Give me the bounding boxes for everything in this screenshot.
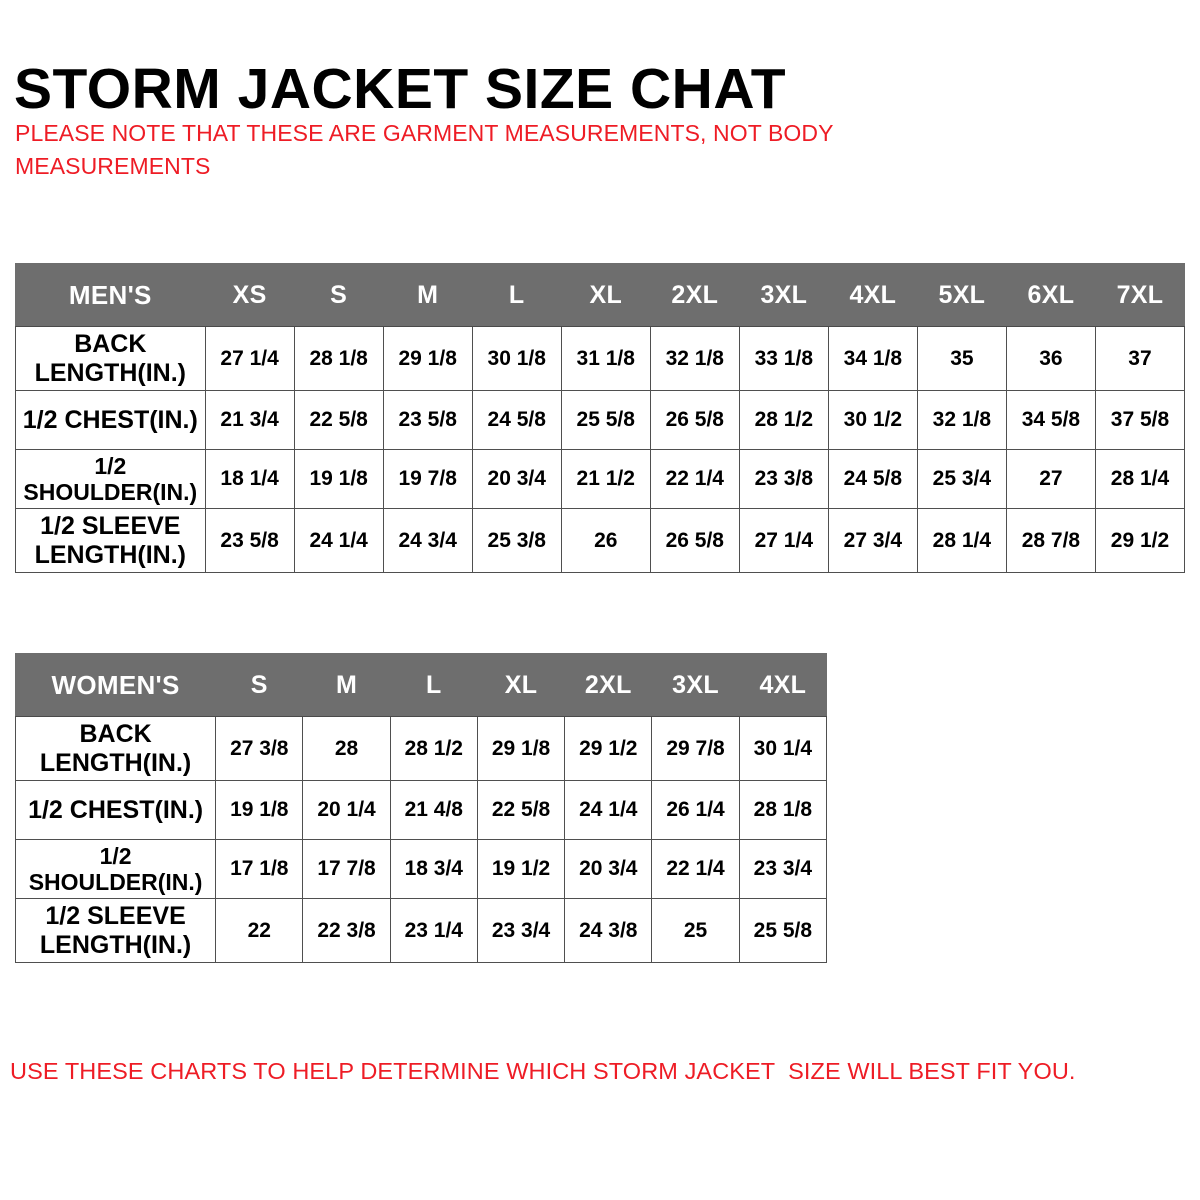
measurement-cell: 29 1/2 — [565, 717, 652, 781]
measurement-cell: 28 1/4 — [1095, 450, 1184, 509]
measurement-cell: 21 3/4 — [205, 391, 294, 450]
mens-size-header-4xl: 4XL — [828, 264, 917, 327]
womens-size-header-s: S — [216, 654, 303, 717]
mens-measurement-label: BACKLENGTH(IN.) — [16, 327, 206, 391]
measurement-cell: 27 3/8 — [216, 717, 303, 781]
measurement-cell: 29 7/8 — [652, 717, 739, 781]
mens-table-header: MEN'SXSSMLXL2XL3XL4XL5XL6XL7XL — [16, 264, 1185, 327]
mens-size-header-2xl: 2XL — [650, 264, 739, 327]
measurement-cell: 23 5/8 — [205, 509, 294, 573]
womens-table-header: WOMEN'SSMLXL2XL3XL4XL — [16, 654, 827, 717]
measurement-cell: 29 1/8 — [383, 327, 472, 391]
measurement-cell: 22 1/4 — [652, 840, 739, 899]
table-row: BACKLENGTH(IN.)27 3/82828 1/229 1/829 1/… — [16, 717, 827, 781]
table-row: 1/2 SLEEVELENGTH(IN.)23 5/824 1/424 3/42… — [16, 509, 1185, 573]
measurement-cell: 26 — [561, 509, 650, 573]
measurement-cell: 30 1/4 — [739, 717, 826, 781]
measurement-cell: 34 1/8 — [828, 327, 917, 391]
womens-size-header-2xl: 2XL — [565, 654, 652, 717]
measurement-cell: 17 1/8 — [216, 840, 303, 899]
measurement-cell: 25 3/8 — [472, 509, 561, 573]
measurement-cell: 19 1/2 — [477, 840, 564, 899]
measurement-cell: 22 — [216, 899, 303, 963]
measurement-cell: 33 1/8 — [739, 327, 828, 391]
womens-measurement-label: 1/2 SHOULDER(IN.) — [16, 840, 216, 899]
mens-size-header-5xl: 5XL — [917, 264, 1006, 327]
measurement-cell: 24 5/8 — [472, 391, 561, 450]
measurement-cell: 26 5/8 — [650, 509, 739, 573]
womens-size-header-3xl: 3XL — [652, 654, 739, 717]
womens-measurement-label: BACKLENGTH(IN.) — [16, 717, 216, 781]
measurement-cell: 27 1/4 — [205, 327, 294, 391]
womens-size-header-l: L — [390, 654, 477, 717]
mens-size-header-m: M — [383, 264, 472, 327]
measurement-cell: 34 5/8 — [1006, 391, 1095, 450]
mens-measurement-label: 1/2 SHOULDER(IN.) — [16, 450, 206, 509]
measurement-cell: 28 1/4 — [917, 509, 1006, 573]
measurement-cell: 18 3/4 — [390, 840, 477, 899]
measurement-cell: 23 1/4 — [390, 899, 477, 963]
mens-size-header-3xl: 3XL — [739, 264, 828, 327]
table-row: 1/2 SLEEVELENGTH(IN.)2222 3/823 1/423 3/… — [16, 899, 827, 963]
measurement-cell: 21 4/8 — [390, 781, 477, 840]
measurement-cell: 24 1/4 — [565, 781, 652, 840]
table-row: 1/2 CHEST(IN.)21 3/422 5/823 5/824 5/825… — [16, 391, 1185, 450]
measurement-cell: 20 1/4 — [303, 781, 390, 840]
measurement-cell: 22 5/8 — [477, 781, 564, 840]
measurement-cell: 21 1/2 — [561, 450, 650, 509]
measurement-cell: 19 1/8 — [294, 450, 383, 509]
measurement-cell: 19 7/8 — [383, 450, 472, 509]
measurement-cell: 17 7/8 — [303, 840, 390, 899]
measurement-cell: 36 — [1006, 327, 1095, 391]
measurement-cell: 22 3/8 — [303, 899, 390, 963]
measurement-cell: 28 7/8 — [1006, 509, 1095, 573]
table-row: 1/2 SHOULDER(IN.)18 1/419 1/819 7/820 3/… — [16, 450, 1185, 509]
womens-measurement-label: 1/2 SLEEVELENGTH(IN.) — [16, 899, 216, 963]
measurement-cell: 23 3/8 — [739, 450, 828, 509]
measurement-cell: 32 1/8 — [917, 391, 1006, 450]
measurement-cell: 30 1/2 — [828, 391, 917, 450]
measurement-cell: 29 1/8 — [477, 717, 564, 781]
mens-corner-header: MEN'S — [16, 264, 206, 327]
measurement-cell: 18 1/4 — [205, 450, 294, 509]
mens-size-header-xs: XS — [205, 264, 294, 327]
measurement-cell: 24 1/4 — [294, 509, 383, 573]
measurement-cell: 22 5/8 — [294, 391, 383, 450]
measurement-cell: 25 3/4 — [917, 450, 1006, 509]
measurement-cell: 26 5/8 — [650, 391, 739, 450]
measurement-cell: 24 5/8 — [828, 450, 917, 509]
measurement-cell: 28 — [303, 717, 390, 781]
table-row: 1/2 SHOULDER(IN.)17 1/817 7/818 3/419 1/… — [16, 840, 827, 899]
mens-size-header-7xl: 7XL — [1095, 264, 1184, 327]
measurement-cell: 27 3/4 — [828, 509, 917, 573]
measurement-cell: 28 1/2 — [739, 391, 828, 450]
womens-size-header-4xl: 4XL — [739, 654, 826, 717]
womens-corner-header: WOMEN'S — [16, 654, 216, 717]
measurement-cell: 27 — [1006, 450, 1095, 509]
measurement-cell: 28 1/2 — [390, 717, 477, 781]
womens-size-table: WOMEN'SSMLXL2XL3XL4XL BACKLENGTH(IN.)27 … — [15, 653, 827, 963]
measurement-cell: 19 1/8 — [216, 781, 303, 840]
measurement-cell: 20 3/4 — [472, 450, 561, 509]
measurement-cell: 24 3/8 — [565, 899, 652, 963]
measurement-cell: 25 5/8 — [561, 391, 650, 450]
measurement-cell: 23 3/4 — [739, 840, 826, 899]
table-row: 1/2 CHEST(IN.)19 1/820 1/421 4/822 5/824… — [16, 781, 827, 840]
mens-size-header-xl: XL — [561, 264, 650, 327]
mens-size-header-l: L — [472, 264, 561, 327]
table-header-row: MEN'SXSSMLXL2XL3XL4XL5XL6XL7XL — [16, 264, 1185, 327]
page-title: STORM JACKET SIZE CHAT — [14, 60, 786, 120]
size-chart-page: STORM JACKET SIZE CHAT PLEASE NOTE THAT … — [0, 0, 1200, 1200]
mens-measurement-label: 1/2 SLEEVELENGTH(IN.) — [16, 509, 206, 573]
mens-size-header-s: S — [294, 264, 383, 327]
measurement-cell: 37 5/8 — [1095, 391, 1184, 450]
measurement-cell: 22 1/4 — [650, 450, 739, 509]
mens-measurement-label: 1/2 CHEST(IN.) — [16, 391, 206, 450]
table-header-row: WOMEN'SSMLXL2XL3XL4XL — [16, 654, 827, 717]
measurement-cell: 28 1/8 — [294, 327, 383, 391]
measurement-cell: 24 3/4 — [383, 509, 472, 573]
measurement-cell: 23 3/4 — [477, 899, 564, 963]
usage-instruction-note: USE THESE CHARTS TO HELP DETERMINE WHICH… — [10, 1058, 1190, 1085]
womens-size-header-xl: XL — [477, 654, 564, 717]
measurement-cell: 20 3/4 — [565, 840, 652, 899]
garment-measurement-note: PLEASE NOTE THAT THESE ARE GARMENT MEASU… — [15, 117, 995, 182]
womens-size-header-m: M — [303, 654, 390, 717]
measurement-cell: 23 5/8 — [383, 391, 472, 450]
measurement-cell: 28 1/8 — [739, 781, 826, 840]
measurement-cell: 37 — [1095, 327, 1184, 391]
measurement-cell: 27 1/4 — [739, 509, 828, 573]
womens-measurement-label: 1/2 CHEST(IN.) — [16, 781, 216, 840]
measurement-cell: 35 — [917, 327, 1006, 391]
measurement-cell: 25 — [652, 899, 739, 963]
measurement-cell: 32 1/8 — [650, 327, 739, 391]
mens-size-table: MEN'SXSSMLXL2XL3XL4XL5XL6XL7XL BACKLENGT… — [15, 263, 1185, 573]
mens-table-body: BACKLENGTH(IN.)27 1/428 1/829 1/830 1/83… — [16, 327, 1185, 573]
womens-table-body: BACKLENGTH(IN.)27 3/82828 1/229 1/829 1/… — [16, 717, 827, 963]
table-row: BACKLENGTH(IN.)27 1/428 1/829 1/830 1/83… — [16, 327, 1185, 391]
measurement-cell: 25 5/8 — [739, 899, 826, 963]
measurement-cell: 31 1/8 — [561, 327, 650, 391]
measurement-cell: 29 1/2 — [1095, 509, 1184, 573]
mens-size-header-6xl: 6XL — [1006, 264, 1095, 327]
measurement-cell: 26 1/4 — [652, 781, 739, 840]
measurement-cell: 30 1/8 — [472, 327, 561, 391]
